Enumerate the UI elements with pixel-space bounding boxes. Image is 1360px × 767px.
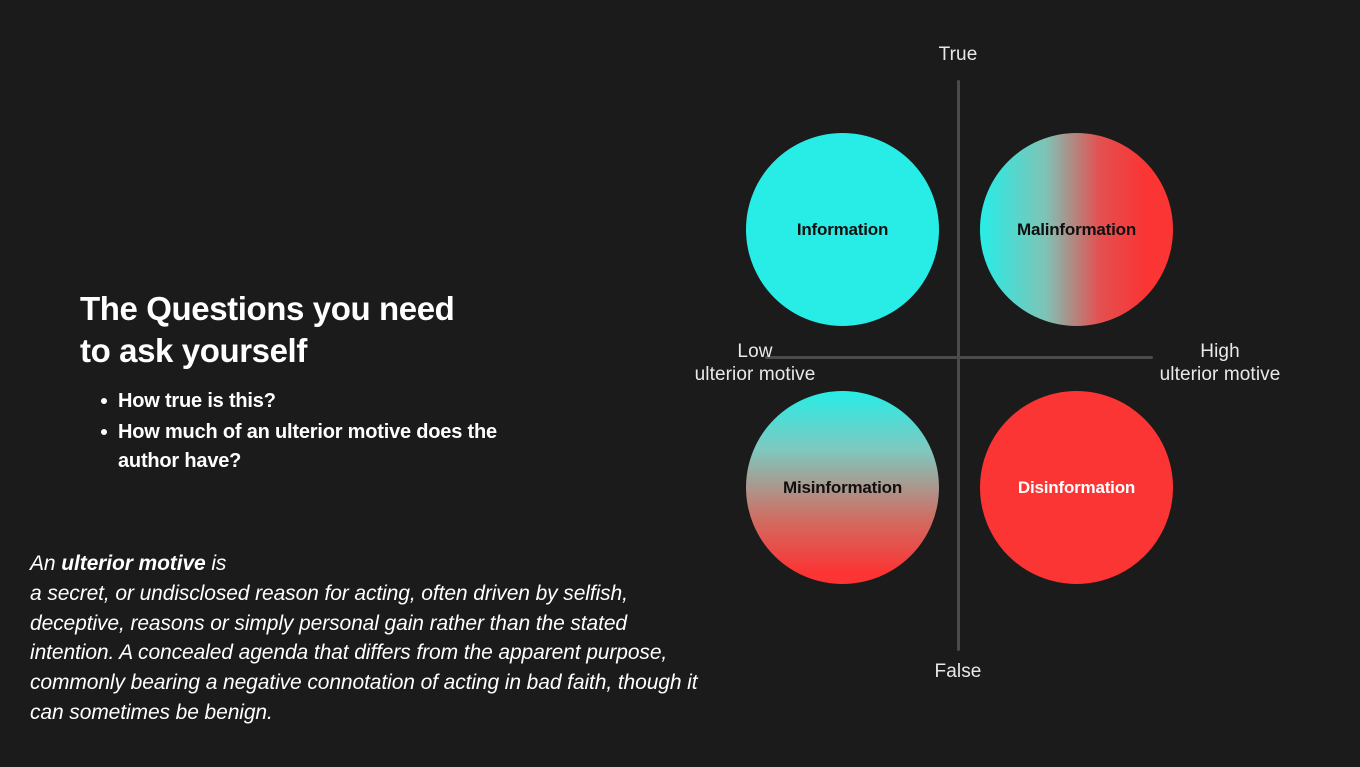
vertical-axis-line: [957, 80, 960, 651]
quadrant-chart: True False Low ulterior motive High ulte…: [620, 0, 1360, 767]
bubble-misinformation-label: Misinformation: [783, 478, 902, 498]
bubble-malinformation: Malinformation: [980, 133, 1173, 326]
definition-body: a secret, or undisclosed reason for acti…: [30, 579, 710, 728]
axis-label-high-text: High: [1160, 340, 1281, 363]
definition-term: ulterior motive: [61, 552, 205, 575]
axis-label-true-text: True: [939, 43, 978, 66]
question-item-label: How much of an ulterior motive does the …: [118, 421, 497, 472]
question-item-label: How true is this?: [118, 390, 276, 412]
bubble-information-label: Information: [797, 220, 888, 240]
axis-label-false-text: False: [935, 660, 982, 683]
bubble-disinformation-label: Disinformation: [1018, 478, 1135, 498]
bubble-information: Information: [746, 133, 939, 326]
definition-block: An ulterior motive is a secret, or undis…: [30, 549, 710, 728]
axis-label-low-text: Low: [695, 340, 816, 363]
axis-label-false: False: [935, 660, 982, 683]
axis-label-true: True: [939, 43, 978, 66]
bubble-disinformation: Disinformation: [980, 391, 1173, 584]
bubble-malinformation-label: Malinformation: [1017, 220, 1136, 240]
list-item: How much of an ulterior motive does the …: [118, 418, 548, 476]
question-list: How true is this? How much of an ulterio…: [90, 387, 548, 478]
bubble-misinformation: Misinformation: [746, 391, 939, 584]
list-item: How true is this?: [118, 387, 548, 416]
horizontal-axis-line: [765, 356, 1153, 359]
axis-label-high-subtext: ulterior motive: [1160, 363, 1281, 386]
left-content-panel: The Questions you need to ask yourself H…: [0, 0, 720, 767]
axis-label-high-ulterior-motive: High ulterior motive: [1160, 340, 1281, 386]
axis-label-low-subtext: ulterior motive: [695, 363, 816, 386]
definition-lead: An ulterior motive is: [30, 549, 710, 579]
definition-lead-prefix: An: [30, 552, 61, 575]
page-title: The Questions you need to ask yourself: [80, 288, 550, 371]
page-title-line-1: The Questions you need: [80, 288, 550, 330]
page-title-line-2: to ask yourself: [80, 330, 550, 372]
definition-lead-suffix: is: [206, 552, 227, 575]
axis-label-low-ulterior-motive: Low ulterior motive: [695, 340, 816, 386]
slide-canvas: The Questions you need to ask yourself H…: [0, 0, 1360, 767]
